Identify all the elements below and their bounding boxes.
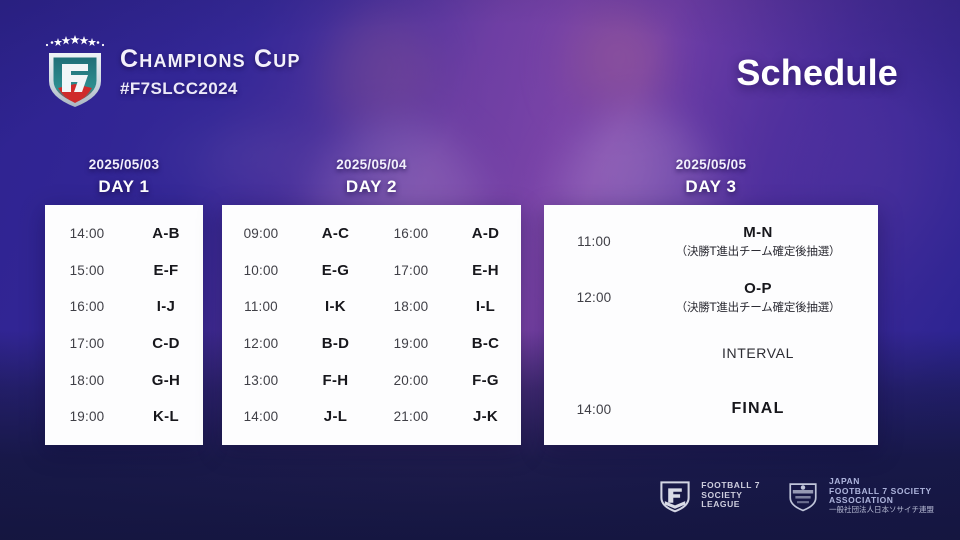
match-time: 20:00 [372,373,450,388]
match-teams: K-L [129,408,203,425]
match-time: 17:00 [372,263,450,278]
japan-football7-society-association-shield-icon [786,479,820,513]
match-time: 11:00 [544,234,644,249]
day1-label: DAY 1 [45,177,203,197]
match-row: 09:00A-C16:00A-D [222,215,521,252]
match-row: 14:00FINAL [544,381,878,437]
match-detail: O-P（決勝T進出チーム確定後抽選） [644,280,878,315]
match-row: 14:00J-L21:00J-K [222,398,521,435]
match-teams: B-D [300,335,371,352]
match-teams: C-D [129,335,203,352]
match-time: 18:00 [45,373,129,388]
day3-date: 2025/05/05 [544,158,878,173]
day2-match-list: 09:00A-C16:00A-D10:00E-G17:00E-H11:00I-K… [222,205,521,445]
match-teams: G-H [129,372,203,389]
match-teams: J-L [300,408,371,425]
match-row: 11:00I-K18:00I-L [222,288,521,325]
match-cell: 10:00E-G [222,262,371,279]
poster-header: Champions Cup #F7SLCC2024 Schedule [0,0,960,130]
match-note: （決勝T進出チーム確定後抽選） [644,243,872,259]
match-row: 15:00E-F [45,252,203,289]
schedule-card-day3: 11:00M-N（決勝T進出チーム確定後抽選）12:00O-P（決勝T進出チーム… [544,205,878,445]
final-label: FINAL [644,400,872,418]
match-cell: 19:00B-C [372,335,521,352]
match-row: INTERVAL [544,325,878,381]
match-time: 14:00 [45,226,129,241]
match-detail: M-N（決勝T進出チーム確定後抽選） [644,224,878,259]
match-teams: I-K [300,298,371,315]
football7-society-league-text: FOOTBALL 7 SOCIETY LEAGUE [701,481,760,510]
match-time: 10:00 [222,263,300,278]
football7-society-league-shield-icon [658,479,692,513]
match-row: 14:00A-B [45,215,203,252]
match-time: 13:00 [222,373,300,388]
match-row: 13:00F-H20:00F-G [222,362,521,399]
match-row: 11:00M-N（決勝T進出チーム確定後抽選） [544,213,878,269]
football7-society-league-logo: FOOTBALL 7 SOCIETY LEAGUE [658,479,760,513]
match-time: 17:00 [45,336,129,351]
match-note: （決勝T進出チーム確定後抽選） [644,299,872,315]
day-heading-day2: 2025/05/04 DAY 2 [222,158,521,197]
match-time: 14:00 [544,402,644,417]
match-cell: 13:00F-H [222,372,371,389]
match-row: 18:00G-H [45,362,203,399]
page-title: Schedule [736,52,898,94]
match-teams: M-N [644,224,872,241]
match-cell: 21:00J-K [372,408,521,425]
match-time: 16:00 [45,299,129,314]
match-row: 17:00C-D [45,325,203,362]
day-heading-day1: 2025/05/03 DAY 1 [45,158,203,197]
match-time: 12:00 [544,290,644,305]
match-teams: F-H [300,372,371,389]
footer-logos: FOOTBALL 7 SOCIETY LEAGUE JAPAN FOOTBALL… [658,477,934,514]
match-time: 16:00 [372,226,450,241]
match-teams: I-L [450,298,521,315]
schedule-poster: Champions Cup #F7SLCC2024 Schedule 2025/… [0,0,960,540]
day3-match-list: 11:00M-N（決勝T進出チーム確定後抽選）12:00O-P（決勝T進出チーム… [544,205,878,445]
match-time: 19:00 [372,336,450,351]
match-time: 11:00 [222,299,300,314]
day2-label: DAY 2 [222,177,521,197]
match-cell: 12:00B-D [222,335,371,352]
match-detail: INTERVAL [644,345,878,361]
brand-title: Champions Cup [120,47,301,72]
match-time: 09:00 [222,226,300,241]
f7-shield-mark [44,48,106,110]
brand-lockup: Champions Cup #F7SLCC2024 [44,32,301,110]
match-time: 15:00 [45,263,129,278]
match-time: 12:00 [222,336,300,351]
match-time: 19:00 [45,409,129,424]
brand-text: Champions Cup #F7SLCC2024 [120,43,301,99]
match-teams: A-D [450,225,521,242]
jfa7-line-jp: 一般社団法人日本ソサイチ連盟 [829,506,934,514]
match-teams: J-K [450,408,521,425]
day1-date: 2025/05/03 [45,158,203,173]
match-detail: FINAL [644,400,878,418]
day1-match-list: 14:00A-B15:00E-F16:00I-J17:00C-D18:00G-H… [45,205,203,445]
day3-label: DAY 3 [544,177,878,197]
match-teams: I-J [129,298,203,315]
match-teams: B-C [450,335,521,352]
match-row: 19:00K-L [45,398,203,435]
match-teams: E-G [300,262,371,279]
match-row: 12:00O-P（決勝T進出チーム確定後抽選） [544,269,878,325]
match-row: 16:00I-J [45,288,203,325]
match-cell: 11:00I-K [222,298,371,315]
match-time: 14:00 [222,409,300,424]
f7sl-line-3: LEAGUE [701,500,760,510]
match-teams: E-F [129,262,203,279]
f7-shield-icon [44,32,106,110]
day-heading-day3: 2025/05/05 DAY 3 [544,158,878,197]
match-cell: 09:00A-C [222,225,371,242]
match-teams: F-G [450,372,521,389]
match-time: 21:00 [372,409,450,424]
schedule-card-day1: 14:00A-B15:00E-F16:00I-J17:00C-D18:00G-H… [45,205,203,445]
day2-date: 2025/05/04 [222,158,521,173]
match-row: 12:00B-D19:00B-C [222,325,521,362]
match-teams: E-H [450,262,521,279]
match-teams: O-P [644,280,872,297]
match-teams: INTERVAL [644,345,872,361]
match-row: 10:00E-G17:00E-H [222,252,521,289]
match-teams: A-B [129,225,203,242]
match-time: 18:00 [372,299,450,314]
japan-football7-society-association-logo: JAPAN FOOTBALL 7 SOCIETY ASSOCIATION 一般社… [786,477,934,514]
match-cell: 20:00F-G [372,372,521,389]
match-cell: 18:00I-L [372,298,521,315]
match-cell: 16:00A-D [372,225,521,242]
match-cell: 14:00J-L [222,408,371,425]
jfa7-text: JAPAN FOOTBALL 7 SOCIETY ASSOCIATION 一般社… [829,477,934,514]
match-cell: 17:00E-H [372,262,521,279]
schedule-card-day2: 09:00A-C16:00A-D10:00E-G17:00E-H11:00I-K… [222,205,521,445]
match-teams: A-C [300,225,371,242]
brand-hashtag: #F7SLCC2024 [120,79,301,99]
